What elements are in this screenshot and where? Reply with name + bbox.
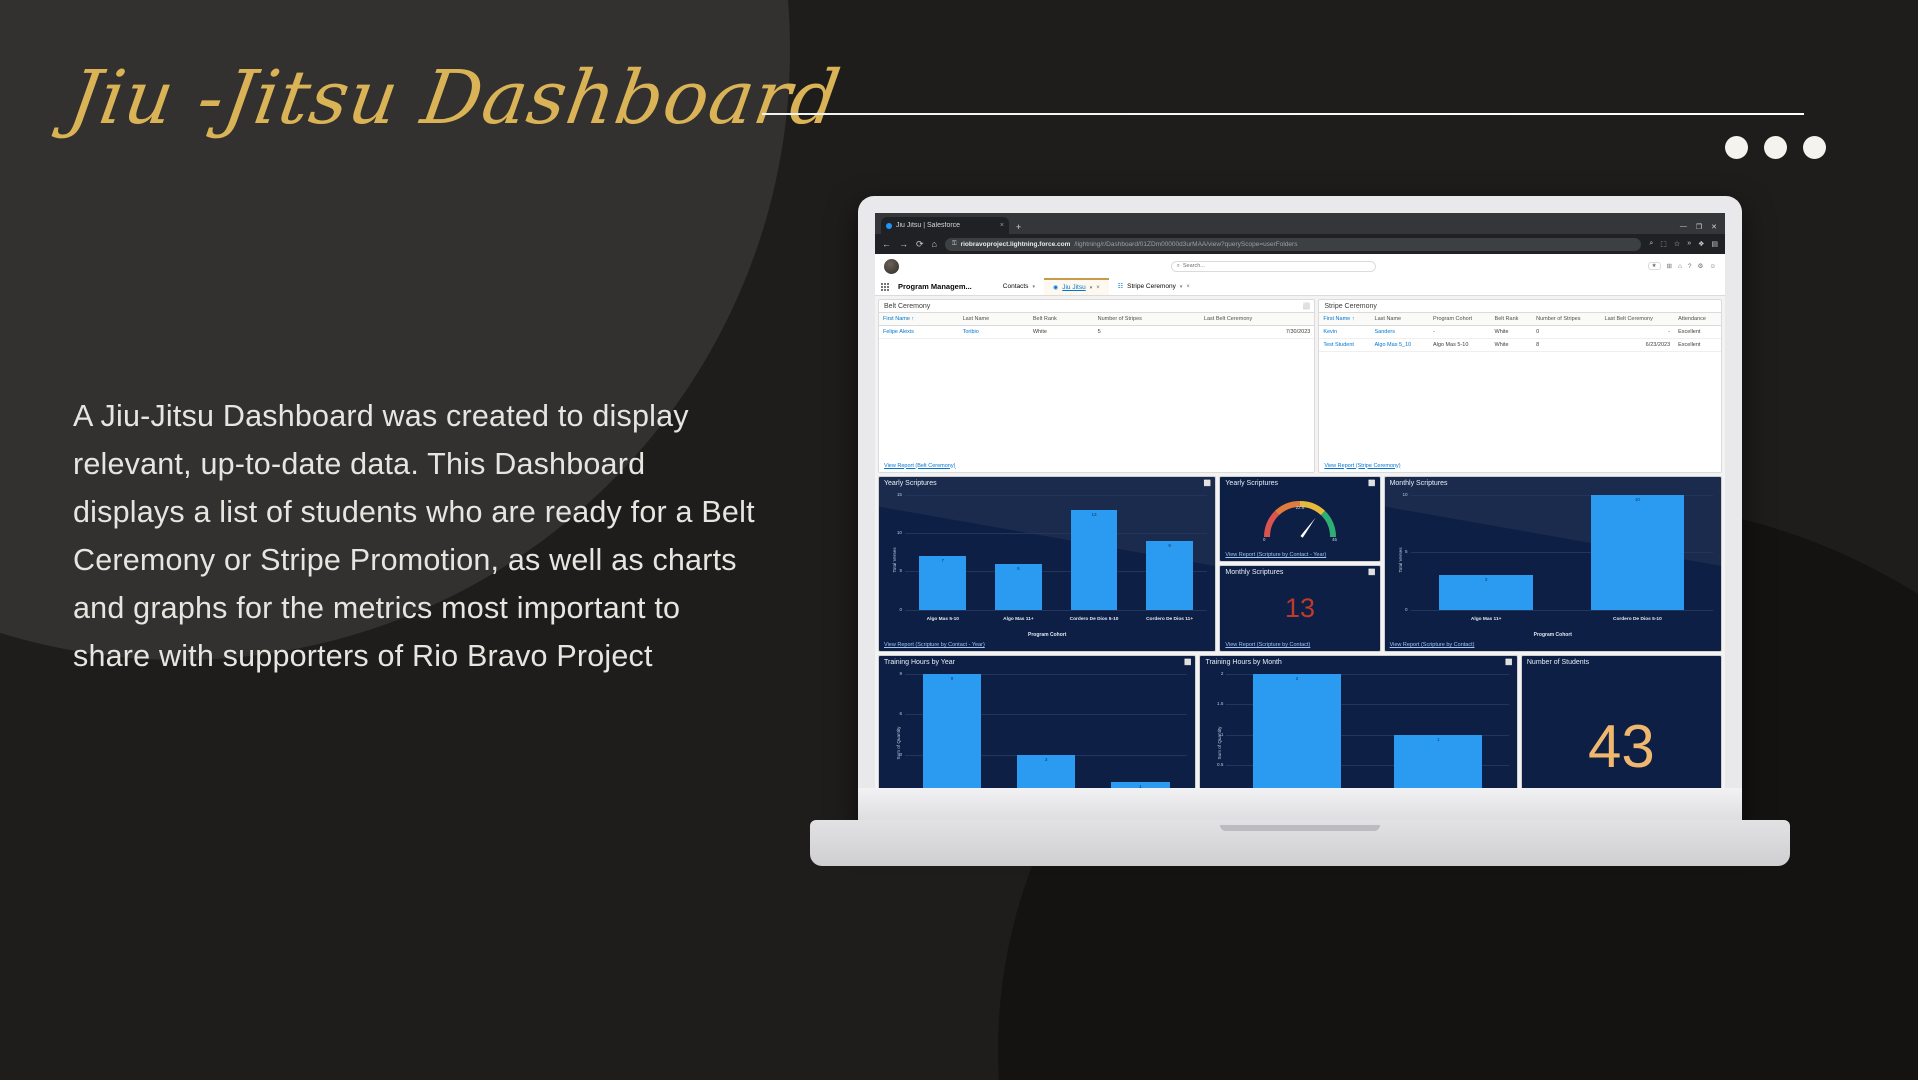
gauge-tick-min: 0 (1263, 537, 1265, 542)
x-axis-label: Program Cohort (1385, 632, 1721, 639)
menu-icon[interactable]: ▤ (1711, 240, 1718, 248)
metric-value: 13 (1220, 578, 1379, 639)
cell-belt-rank: White (1029, 326, 1094, 339)
widget-yearly-scriptures-bar: Yearly Scriptures ⬜ Total Verses 15 10 5… (878, 476, 1216, 652)
bar-value: 3 (1439, 577, 1533, 582)
nav-tab-label: Contacts (1003, 283, 1029, 290)
cell-stripes: 8 (1532, 339, 1600, 352)
view-report-link[interactable]: View Report (Scripture by Contact - Year… (879, 639, 1215, 651)
y-tick: 5 (1393, 549, 1408, 554)
widget-training-hours-month: Training Hours by Month ⬜ Sum of Quantit… (1199, 655, 1517, 808)
column-header[interactable]: Number of Stripes (1094, 313, 1200, 326)
close-window-icon[interactable]: ✕ (1711, 223, 1717, 231)
x-axis-label: Program Cohort (879, 632, 1215, 639)
widget-header: Yearly Scriptures ⬜ (879, 477, 1215, 489)
x-axis-ticks: Algo Mas 5-10 Algo Mas 11+ Cordero De Di… (905, 617, 1207, 622)
view-report-link[interactable]: View Report (Stripe Ceremony) (1319, 460, 1721, 472)
nav-tab-stripe-ceremony[interactable]: ☷ Stripe Ceremony ▾ × (1109, 278, 1199, 295)
table-header-row: First Name ↑ Last Name Program Cohort Be… (1319, 313, 1721, 326)
browser-tab-title: Jiu Jitsu | Salesforce (896, 222, 996, 229)
decorative-dots (1725, 136, 1826, 159)
dot-2 (1764, 136, 1787, 159)
y-tick: 3 (887, 752, 902, 757)
browser-address-bar: ← → ⟳ ⌂ ⚿ riobravoproject.lightning.forc… (875, 234, 1725, 254)
cell-program-cohort: - (1429, 326, 1491, 339)
chevron-down-icon[interactable]: ▾ (1180, 284, 1183, 290)
browser-tab[interactable]: Jiu Jitsu | Salesforce × (881, 217, 1009, 234)
column-header[interactable]: Last Name (1371, 313, 1429, 326)
column-header[interactable]: Belt Rank (1029, 313, 1094, 326)
bar[interactable]: 7 (919, 556, 966, 610)
column-header[interactable]: Last Belt Ceremony (1200, 313, 1314, 326)
chevron-down-icon[interactable]: ▾ (1032, 284, 1035, 290)
expand-icon[interactable]: ⬜ (1368, 480, 1374, 487)
gauge-arc (1261, 497, 1339, 541)
y-tick: 0.5 (1208, 762, 1223, 767)
bar[interactable]: 13 (1071, 510, 1118, 610)
nav-tab-label: Stripe Ceremony (1127, 283, 1176, 290)
widget-training-hours-year: Training Hours by Year ⬜ Sum of Quantity… (878, 655, 1196, 808)
header-divider (762, 113, 1804, 115)
widget-header: Yearly Scriptures ⬜ (1220, 477, 1379, 489)
favicon-icon (886, 223, 892, 229)
bar[interactable]: 10 (1591, 495, 1685, 610)
share-icon[interactable]: ⬚ (1660, 240, 1667, 248)
y-tick: 10 (1393, 492, 1408, 497)
y-tick: 6 (887, 711, 902, 716)
y-tick: 10 (887, 530, 902, 535)
bar-value: 2 (1253, 676, 1341, 681)
view-report-link[interactable]: View Report (Scripture by Contact) (1220, 639, 1379, 651)
widget-header: Number of Students (1522, 656, 1721, 668)
plot-area: 10 5 0 3 10 (1411, 495, 1713, 610)
column-header[interactable]: Last Name (959, 313, 1029, 326)
widget-monthly-scriptures-bar: Monthly Scriptures Total Verses 10 5 0 3… (1384, 476, 1722, 652)
y-tick: 15 (887, 492, 902, 497)
widget-title: Yearly Scriptures (884, 480, 937, 487)
report-icon: ☷ (1118, 283, 1123, 290)
table-row[interactable]: Test Student Algo Mas 5_10 Algo Mas 5-10… (1319, 339, 1721, 352)
laptop-base (810, 820, 1790, 866)
bar-value: 7 (919, 558, 966, 563)
belt-ceremony-table: First Name ↑ Last Name Belt Rank Number … (879, 312, 1314, 339)
org-logo-icon (884, 259, 899, 274)
dashboard-icon: ◉ (1053, 284, 1058, 291)
chart-training-hours-month: Sum of Quantity 2 1.5 1 0.5 0 2 1 (1200, 668, 1516, 808)
browser-toolbar-icons: ⌕ ⬚ ☆ » ❖ ▤ (1649, 240, 1718, 248)
bar[interactable]: 9 (1146, 541, 1193, 610)
nav-tab-jiu-jitsu[interactable]: ◉ Jiu Jitsu ▾ × (1044, 278, 1109, 295)
forward-icon[interactable]: → (899, 239, 908, 249)
laptop-screen: Jiu Jitsu | Salesforce × + — ❐ ✕ ← → ⟳ ⌂… (875, 213, 1725, 808)
widget-title: Training Hours by Month (1205, 659, 1281, 666)
cell-first-name[interactable]: Test Student (1319, 339, 1370, 352)
widget-title: Number of Students (1527, 659, 1589, 666)
widget-belt-ceremony: Belt Ceremony ⬜ First Name ↑ Last Name B… (878, 299, 1315, 473)
page-title: Jiu -Jitsu Dashboard (59, 28, 721, 168)
bar-value: 10 (1591, 497, 1685, 502)
cell-stripes: 5 (1094, 326, 1200, 339)
bar-series: 2 1 (1226, 674, 1508, 796)
y-tick: 0 (1393, 607, 1408, 612)
bar-value: 6 (995, 566, 1042, 571)
profile-icon[interactable]: ❖ (1698, 240, 1704, 248)
table-row[interactable]: Kevin Sanders - White 0 - Excellent (1319, 326, 1721, 339)
widget-title: Training Hours by Year (884, 659, 955, 666)
gauge-tick-max: 45 (1332, 537, 1337, 542)
bar-value: 13 (1071, 512, 1118, 517)
y-tick: 1.5 (1208, 701, 1223, 706)
widget-stripe-ceremony: Stripe Ceremony First Name ↑ Last Name P… (1318, 299, 1722, 473)
dashboard-row-3: Training Hours by Year ⬜ Sum of Quantity… (878, 655, 1722, 808)
reload-icon[interactable]: ⟳ (916, 239, 924, 250)
y-tick: 0 (887, 607, 902, 612)
cell-stripes: 0 (1532, 326, 1600, 339)
widget-header: Monthly Scriptures (1385, 477, 1721, 489)
cell-belt-rank: White (1491, 339, 1533, 352)
widget-title: Stripe Ceremony (1324, 303, 1377, 310)
bar[interactable]: 1 (1394, 735, 1482, 796)
search-icon: ⌕ (1177, 263, 1180, 270)
dashboard-row-2: Yearly Scriptures ⬜ Total Verses 15 10 5… (878, 476, 1722, 652)
y-tick: 2 (1208, 671, 1223, 676)
column-header[interactable]: Last Belt Ceremony (1601, 313, 1675, 326)
plot-area: 2 1.5 1 0.5 0 2 1 (1226, 674, 1508, 796)
gauge-tick-mid: 22.5 (1296, 505, 1305, 510)
cell-belt-rank: White (1491, 326, 1533, 339)
cell-last-name[interactable]: Algo Mas 5_10 (1371, 339, 1429, 352)
bar-series: 9 3 1 (905, 674, 1187, 796)
x-tick: Cordero De Dios 5-10 (1562, 617, 1713, 622)
dashboard-row-1: Belt Ceremony ⬜ First Name ↑ Last Name B… (878, 299, 1722, 473)
x-tick: Algo Mas 5-10 (905, 617, 981, 622)
laptop-lid: Jiu Jitsu | Salesforce × + — ❐ ✕ ← → ⟳ ⌂… (858, 196, 1742, 830)
dashboard-canvas: Belt Ceremony ⬜ First Name ↑ Last Name B… (875, 296, 1725, 808)
bar[interactable]: 3 (1439, 575, 1533, 610)
app-name-label[interactable]: Program Managem... (898, 282, 972, 291)
body-paragraph: A Jiu-Jitsu Dashboard was created to dis… (73, 392, 763, 680)
widget-header: Monthly Scriptures ⬜ (1220, 566, 1379, 578)
x-tick: Algo Mas 11+ (981, 617, 1057, 622)
minimize-icon[interactable]: — (1680, 223, 1687, 231)
close-icon[interactable]: × (1186, 284, 1190, 290)
bar[interactable]: 9 (923, 674, 981, 796)
cell-last-ceremony: 7/30/2023 (1200, 326, 1314, 339)
x-axis-ticks: Algo Mas 11+ Cordero De Dios 5-10 (1411, 617, 1713, 622)
bar-series: 7 6 13 9 (905, 495, 1207, 610)
new-tab-button[interactable]: + (1016, 222, 1021, 232)
search-placeholder: Search... (1183, 263, 1205, 269)
search-icon[interactable]: ⌕ (1649, 240, 1653, 248)
cell-last-name[interactable]: Toribio (959, 326, 1029, 339)
nav-tab-contacts[interactable]: Contacts ▾ (994, 278, 1044, 295)
column-header[interactable]: Number of Stripes (1532, 313, 1600, 326)
cell-program-cohort: Algo Mas 5-10 (1429, 339, 1491, 352)
setup-gear-icon[interactable]: ⚙ (1698, 262, 1704, 270)
chart-monthly-scriptures: Total Verses 10 5 0 3 10 (1385, 489, 1721, 632)
laptop-deck (858, 788, 1742, 820)
stripe-ceremony-table: First Name ↑ Last Name Program Cohort Be… (1319, 312, 1721, 352)
help-icon[interactable]: ? (1688, 263, 1692, 270)
column-header[interactable]: Attendance (1674, 313, 1721, 326)
expand-icon[interactable]: ⬜ (1303, 303, 1309, 310)
bar[interactable]: 2 (1253, 674, 1341, 796)
cell-last-ceremony: - (1601, 326, 1675, 339)
plot-area: 9 6 3 0 9 3 1 (905, 674, 1187, 796)
widget-header: Training Hours by Month ⬜ (1200, 656, 1516, 668)
expand-icon[interactable]: ⬜ (1184, 659, 1190, 666)
view-report-link[interactable]: View Report (Belt Ceremony) (879, 460, 1314, 472)
maximize-icon[interactable]: ❐ (1696, 223, 1702, 231)
widget-title: Belt Ceremony (884, 303, 930, 310)
chevron-down-icon[interactable]: ▾ (1090, 285, 1093, 291)
salesforce-nav-bar: Program Managem... Contacts ▾ ◉ Jiu Jits… (875, 278, 1725, 296)
bar[interactable]: 6 (995, 564, 1042, 610)
back-icon[interactable]: ← (882, 239, 891, 249)
view-report-link[interactable]: View Report (Scripture by Contact - Year… (1220, 549, 1379, 561)
plot-area: 15 10 5 0 7 6 13 9 (905, 495, 1207, 610)
widget-title: Yearly Scriptures (1225, 480, 1278, 487)
column-header[interactable]: First Name ↑ (1319, 313, 1370, 326)
home-icon[interactable]: ⌂ (1678, 263, 1682, 270)
window-controls: — ❐ ✕ (1680, 223, 1725, 234)
url-input[interactable]: ⚿ riobravoproject.lightning.force.com /l… (945, 238, 1641, 251)
bookmark-star-icon[interactable]: ☆ (1674, 240, 1680, 248)
widget-number-of-students: Number of Students 43 (1521, 655, 1722, 808)
column-header[interactable]: Belt Rank (1491, 313, 1533, 326)
nav-tab-label: Jiu Jitsu (1062, 284, 1085, 291)
chart-yearly-scriptures: Total Verses 15 10 5 0 7 6 13 9 (879, 489, 1215, 632)
x-tick: Cordero De Dios 5-10 (1056, 617, 1132, 622)
expand-icon[interactable]: ⬜ (1505, 659, 1511, 666)
column-header[interactable]: First Name ↑ (879, 313, 959, 326)
chart-gauge: 0 22.5 45 (1220, 489, 1379, 550)
y-tick: 5 (887, 568, 902, 573)
cell-last-name[interactable]: Sanders (1371, 326, 1429, 339)
dot-1 (1725, 136, 1748, 159)
close-icon[interactable]: × (1000, 222, 1004, 229)
expand-icon[interactable]: ⬜ (1204, 480, 1210, 487)
url-host: riobravoproject.lightning.force.com (961, 241, 1071, 248)
widget-yearly-scriptures-gauge: Yearly Scriptures ⬜ (1219, 476, 1380, 563)
chart-training-hours-year: Sum of Quantity 9 6 3 0 9 3 1 (879, 668, 1195, 808)
bar-value: 3 (1017, 757, 1075, 762)
close-icon[interactable]: × (1096, 285, 1100, 291)
cell-first-name[interactable]: Felipe Alexis (879, 326, 959, 339)
global-header-actions: ★ ⊞ ⌂ ? ⚙ ☺ (1648, 262, 1716, 270)
bar-value: 9 (923, 676, 981, 681)
widget-title: Monthly Scriptures (1390, 480, 1448, 487)
cell-attendance: Excellent (1674, 339, 1721, 352)
home-icon[interactable]: ⌂ (932, 239, 937, 249)
widget-monthly-scriptures-metric: Monthly Scriptures ⬜ 13 View Report (Scr… (1219, 565, 1380, 652)
laptop-mockup: Jiu Jitsu | Salesforce × + — ❐ ✕ ← → ⟳ ⌂… (810, 196, 1790, 866)
widget-header: Belt Ceremony ⬜ (879, 300, 1314, 312)
expand-icon[interactable]: ⬜ (1368, 569, 1374, 576)
bar-series: 3 10 (1411, 495, 1713, 610)
widget-header: Training Hours by Year ⬜ (879, 656, 1195, 668)
bar-value: 9 (1146, 543, 1193, 548)
browser-tab-bar: Jiu Jitsu | Salesforce × + — ❐ ✕ (875, 213, 1725, 234)
x-tick: Cordero De Dios 11+ (1132, 617, 1208, 622)
metric-value: 43 (1522, 668, 1721, 808)
global-search-input[interactable]: ⌕ Search... (1171, 261, 1376, 272)
cell-attendance: Excellent (1674, 326, 1721, 339)
favorites-icon[interactable]: ★ (1648, 262, 1661, 270)
salesforce-global-header: ⌕ Search... ★ ⊞ ⌂ ? ⚙ ☺ (875, 254, 1725, 278)
x-tick: Algo Mas 11+ (1411, 617, 1562, 622)
cell-last-ceremony: 6/23/2023 (1601, 339, 1675, 352)
lock-icon: ⚿ (952, 241, 957, 248)
bar-value: 1 (1394, 737, 1482, 742)
view-report-link[interactable]: View Report (Scripture by Contact) (1385, 639, 1721, 651)
app-launcher-icon[interactable] (881, 283, 889, 291)
extensions-icon[interactable]: » (1687, 240, 1691, 248)
table-row[interactable]: Felipe Alexis Toribio White 5 7/30/2023 (879, 326, 1314, 339)
dot-3 (1803, 136, 1826, 159)
apps-icon[interactable]: ⊞ (1667, 262, 1672, 270)
y-tick: 1 (1208, 732, 1223, 737)
table-header-row: First Name ↑ Last Name Belt Rank Number … (879, 313, 1314, 326)
url-path: /lightning/r/Dashboard/01ZDm00000d3urMAA… (1074, 241, 1297, 248)
column-header[interactable]: Program Cohort (1429, 313, 1491, 326)
widget-header: Stripe Ceremony (1319, 300, 1721, 312)
avatar[interactable]: ☺ (1709, 263, 1716, 270)
widget-title: Monthly Scriptures (1225, 569, 1283, 576)
y-tick: 9 (887, 671, 902, 676)
cell-first-name[interactable]: Kevin (1319, 326, 1370, 339)
